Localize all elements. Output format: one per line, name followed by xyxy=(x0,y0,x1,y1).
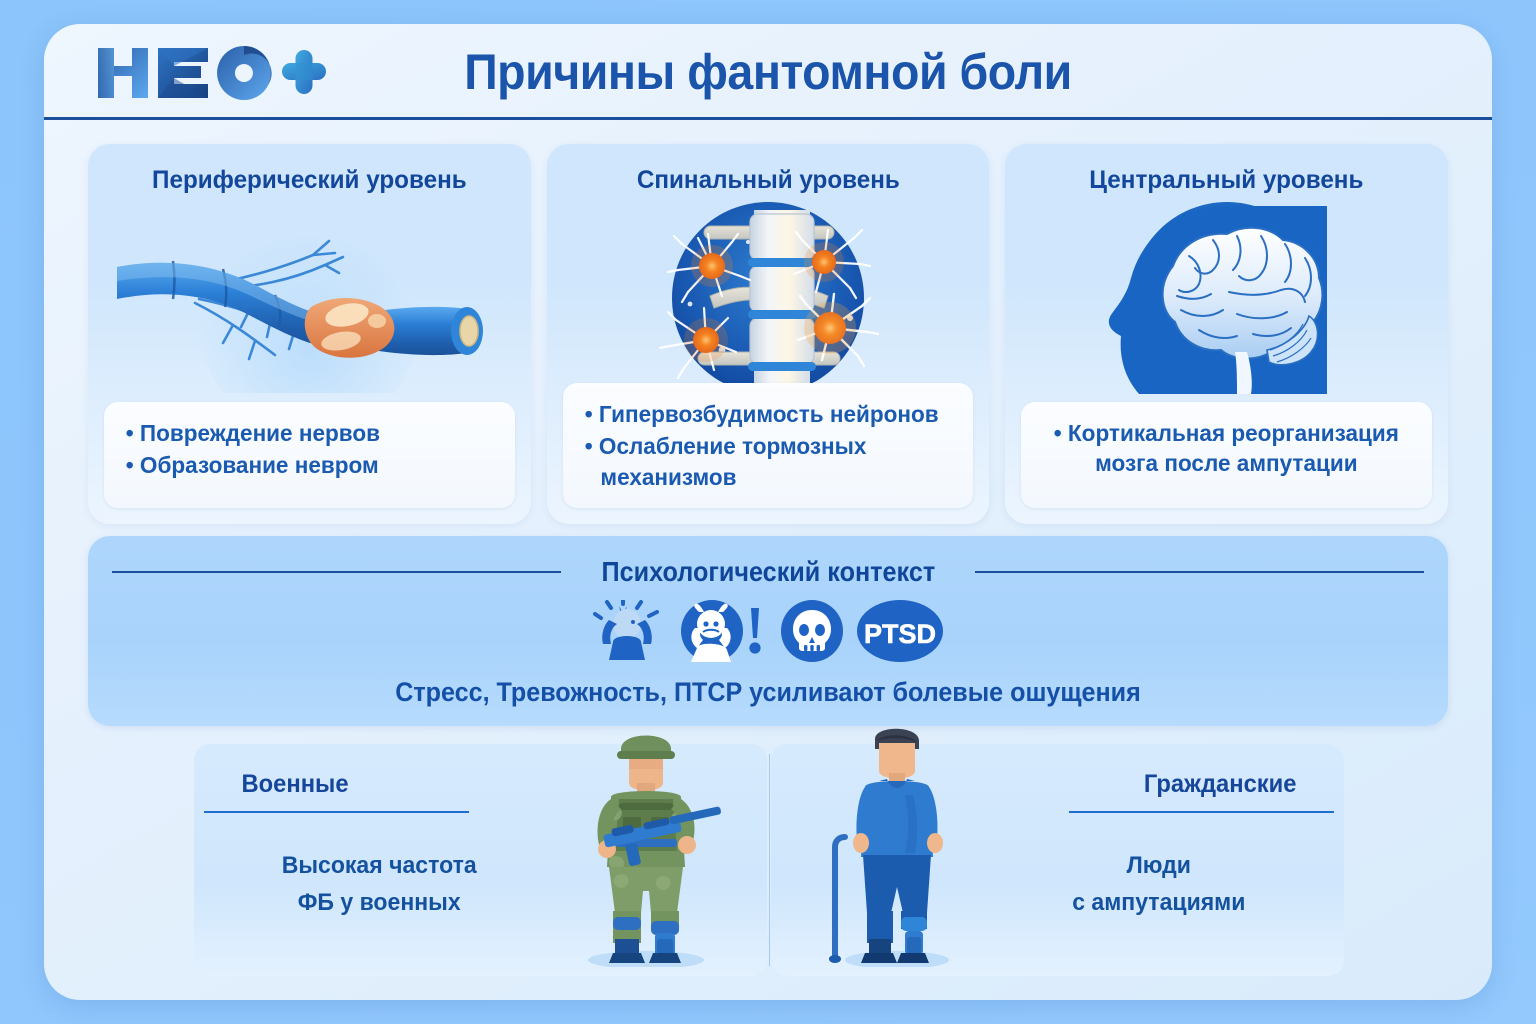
card-peripheral-bullets: Повреждение нервов Образование невром xyxy=(104,402,515,508)
group-civilian[interactable]: Гражданские Люди с ампутациями xyxy=(771,744,1344,976)
psychological-context-title: Психологический контекст xyxy=(601,556,935,588)
rule-right xyxy=(975,571,1424,573)
psychological-context-header: Психологический контекст xyxy=(88,556,1448,588)
desc-line: ФБ у военных xyxy=(240,884,518,921)
group-civilian-description: Люди с ампутациями xyxy=(1010,847,1298,921)
desc-line: Высокая частота xyxy=(240,847,518,884)
card-peripheral-title: Периферический уровень xyxy=(95,166,524,195)
card-peripheral-level[interactable]: Периферический уровень xyxy=(88,144,531,524)
nerve-neuroma-icon xyxy=(88,200,531,396)
ptsd-badge-icon: PTSD xyxy=(857,600,943,662)
group-civilian-title: Гражданские xyxy=(1012,770,1297,799)
skull-icon xyxy=(781,600,843,662)
psychological-icons-row: PTSD xyxy=(88,600,1448,662)
group-civilian-text: Гражданские Люди с ампутациями xyxy=(1004,770,1304,921)
exclamation-mark xyxy=(749,608,760,654)
levels-row: Периферический уровень xyxy=(88,144,1448,524)
list-item: Повреждение нервов xyxy=(126,418,493,448)
anxiety-person-exclamation-icon xyxy=(681,600,767,662)
soldier-figure xyxy=(551,717,741,972)
spinal-neurons-icon xyxy=(547,200,990,396)
groups-divider xyxy=(769,754,770,966)
card-central-title: Центральный уровень xyxy=(1012,166,1441,195)
card-central-level[interactable]: Центральный уровень xyxy=(1005,144,1448,524)
list-item: Образование невром xyxy=(126,450,493,480)
psychological-context-caption: Стресс, Тревожность, ПТСР усиливают боле… xyxy=(136,677,1401,708)
group-civilian-rule xyxy=(1069,811,1334,813)
card-spinal-bullets: Гипервозбудимость нейронов Ослабление то… xyxy=(563,383,974,508)
desc-line: с ампутациями xyxy=(1020,884,1298,921)
psychological-context-section: Психологический контекст xyxy=(88,536,1448,726)
card-central-bullets: Кортикальная реорганизация мозга после а… xyxy=(1021,402,1432,508)
card-spinal-title: Спинальный уровень xyxy=(553,166,982,195)
ptsd-badge-label: PTSD xyxy=(864,619,936,649)
desc-line: Люди xyxy=(1020,847,1298,884)
list-item: Гипервозбудимость нейронов xyxy=(584,399,951,429)
header: Причины фантомной боли xyxy=(44,24,1492,120)
card-spinal-level[interactable]: Спинальный уровень xyxy=(547,144,990,524)
list-item: Ослабление тормозных механизмов xyxy=(584,431,951,492)
brain-head-icon xyxy=(1005,200,1448,396)
page-title: Причины фантомной боли xyxy=(95,24,1442,120)
group-military-text: Военные Высокая частота ФБ у военных xyxy=(234,770,534,921)
list-item: Кортикальная реорганизация мозга после а… xyxy=(1043,418,1410,479)
population-groups-row: Военные Высокая частота ФБ у военных xyxy=(194,744,1344,976)
stress-person-icon xyxy=(593,600,667,662)
rule-left xyxy=(112,571,561,573)
group-military-rule xyxy=(204,811,469,813)
group-military-title: Военные xyxy=(242,770,527,799)
civilian-figure xyxy=(797,717,977,972)
cane-icon xyxy=(829,837,845,963)
infographic-panel: Причины фантомной боли Периферический ур… xyxy=(44,24,1492,1000)
group-military-description: Высокая частота ФБ у военных xyxy=(240,847,528,921)
group-military[interactable]: Военные Высокая частота ФБ у военных xyxy=(194,744,767,976)
